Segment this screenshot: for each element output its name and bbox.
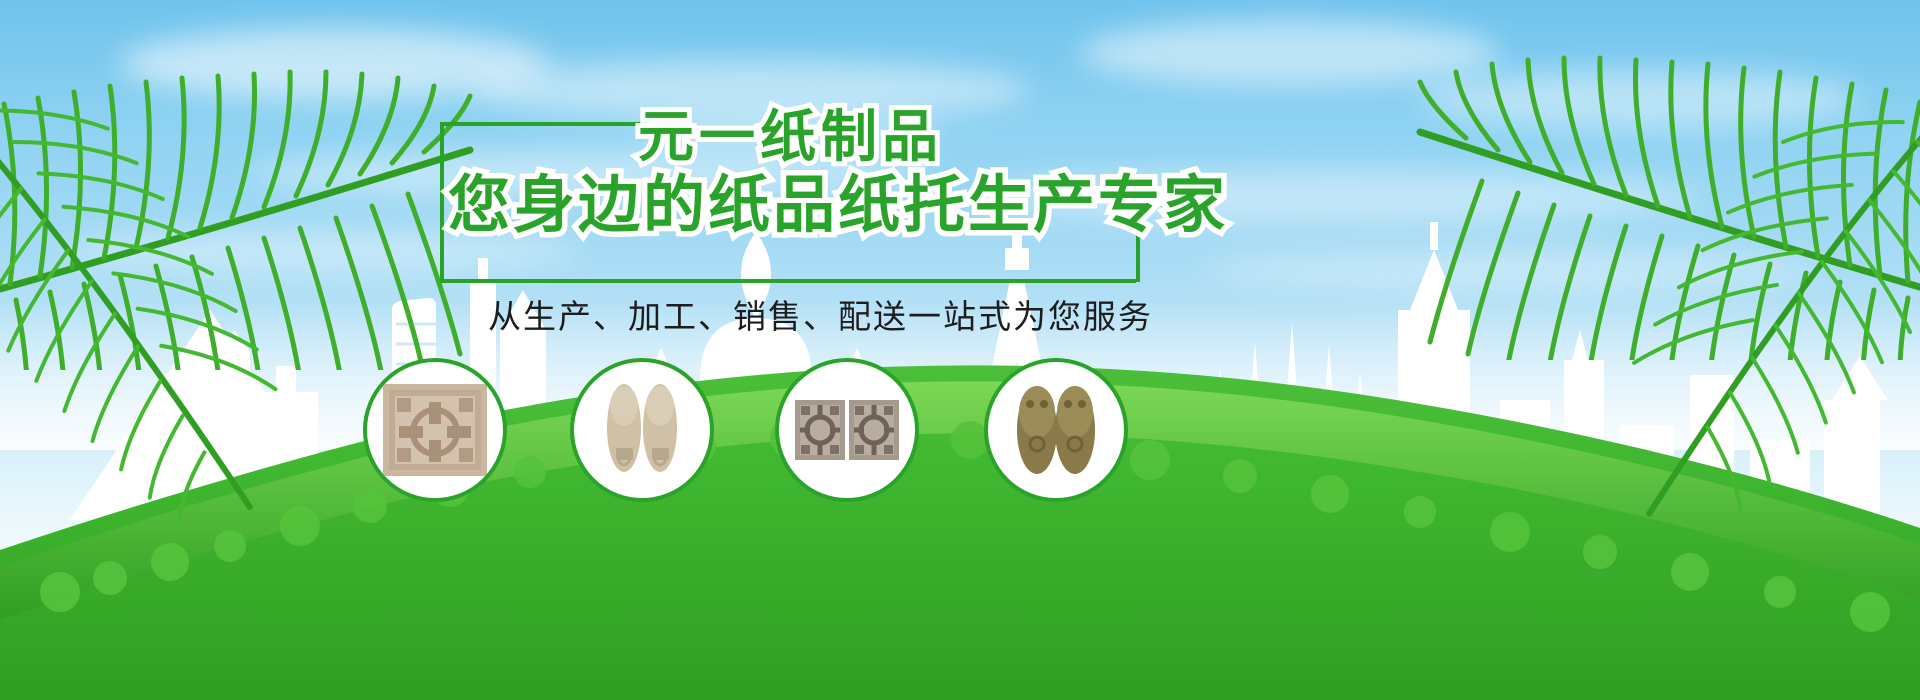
product-circle-1[interactable] [363,358,507,502]
paper-pulp-tray-square-icon [381,382,489,478]
product-circle-2[interactable] [570,358,714,502]
promo-banner: 元一纸制品 您身边的纸品纸托生产专家 从生产、加工、销售、配送一站式为您服务 [0,0,1920,700]
product-circle-row [0,0,1920,700]
paper-pulp-tray-pair-gray-icon [793,382,901,478]
paper-pulp-shoe-insert-pair-icon [1002,382,1110,478]
product-circle-3[interactable] [775,358,919,502]
paper-pulp-shoe-tree-pair-icon [588,382,696,478]
product-circle-4[interactable] [984,358,1128,502]
